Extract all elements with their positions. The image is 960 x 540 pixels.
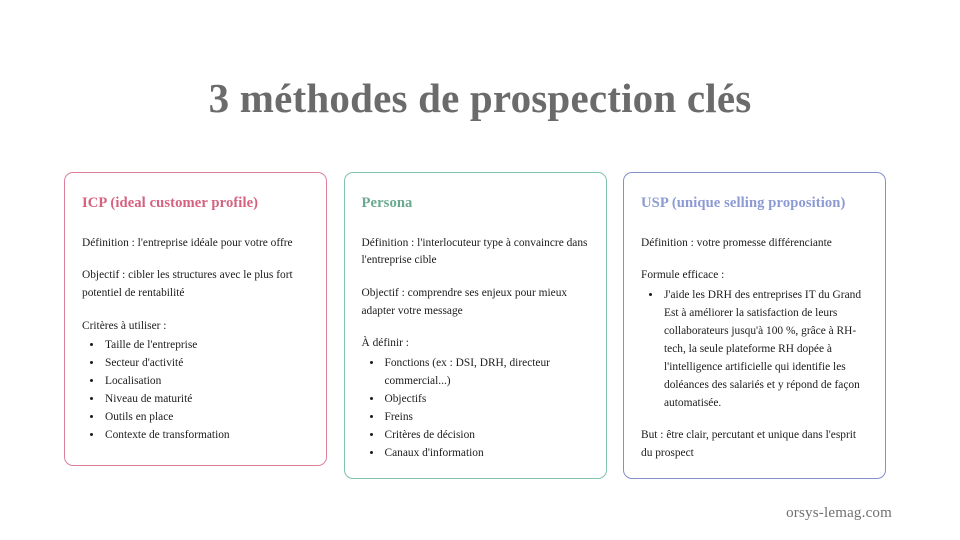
list-item: Secteur d'activité — [103, 354, 309, 372]
card-icp: ICP (ideal customer profile) Définition … — [64, 172, 327, 466]
list-item: Localisation — [103, 372, 309, 390]
card-icp-criteria-block: Critères à utiliser : Taille de l'entrep… — [82, 318, 309, 445]
card-icp-objective: Objectif : cibler les structures avec le… — [82, 267, 309, 302]
card-usp-definition: Définition : votre promesse différencian… — [641, 235, 868, 253]
card-persona-objective-block: Objectif : comprendre ses enjeux pour mi… — [362, 285, 589, 320]
card-persona-bullet-list: Fonctions (ex : DSI, DRH, directeur comm… — [362, 354, 589, 462]
card-usp-formula-block: Formule efficace : J'aide les DRH des en… — [641, 267, 868, 412]
card-usp-definition-block: Définition : votre promesse différencian… — [641, 235, 868, 253]
card-persona-heading: Persona — [362, 195, 589, 213]
list-item: Freins — [383, 408, 589, 426]
list-item: Fonctions (ex : DSI, DRH, directeur comm… — [383, 354, 589, 390]
list-item: Critères de décision — [383, 426, 589, 444]
card-group: ICP (ideal customer profile) Définition … — [64, 172, 886, 479]
slide-canvas: 3 méthodes de prospection clés ICP (idea… — [0, 0, 960, 540]
card-usp-closing: But : être clair, percutant et unique da… — [641, 427, 868, 462]
card-icp-bullet-list: Taille de l'entreprise Secteur d'activit… — [82, 336, 309, 444]
footer-source: orsys-lemag.com — [786, 505, 892, 522]
card-usp: USP (unique selling proposition) Définit… — [623, 172, 886, 479]
card-persona-todefine-block: À définir : Fonctions (ex : DSI, DRH, di… — [362, 335, 589, 462]
list-item: J'aide les DRH des entreprises IT du Gra… — [662, 286, 868, 412]
page-title: 3 méthodes de prospection clés — [0, 76, 960, 121]
card-persona-definition: Définition : l'interlocuteur type à conv… — [362, 235, 589, 270]
card-usp-closing-block: But : être clair, percutant et unique da… — [641, 427, 868, 462]
list-item: Contexte de transformation — [103, 426, 309, 444]
card-usp-list-label: Formule efficace : — [641, 267, 868, 285]
card-persona-list-label: À définir : — [362, 335, 589, 353]
card-icp-objective-block: Objectif : cibler les structures avec le… — [82, 267, 309, 302]
card-persona-definition-block: Définition : l'interlocuteur type à conv… — [362, 235, 589, 270]
card-icp-definition-block: Définition : l'entreprise idéale pour vo… — [82, 235, 309, 253]
card-usp-heading: USP (unique selling proposition) — [641, 195, 868, 213]
list-item: Canaux d'information — [383, 444, 589, 462]
card-persona: Persona Définition : l'interlocuteur typ… — [344, 172, 607, 479]
card-icp-heading: ICP (ideal customer profile) — [82, 195, 309, 213]
card-icp-definition: Définition : l'entreprise idéale pour vo… — [82, 235, 309, 253]
card-icp-list-label: Critères à utiliser : — [82, 318, 309, 336]
card-persona-objective: Objectif : comprendre ses enjeux pour mi… — [362, 285, 589, 320]
list-item: Taille de l'entreprise — [103, 336, 309, 354]
list-item: Objectifs — [383, 390, 589, 408]
list-item: Outils en place — [103, 408, 309, 426]
card-usp-bullet-list: J'aide les DRH des entreprises IT du Gra… — [641, 286, 868, 412]
list-item: Niveau de maturité — [103, 390, 309, 408]
